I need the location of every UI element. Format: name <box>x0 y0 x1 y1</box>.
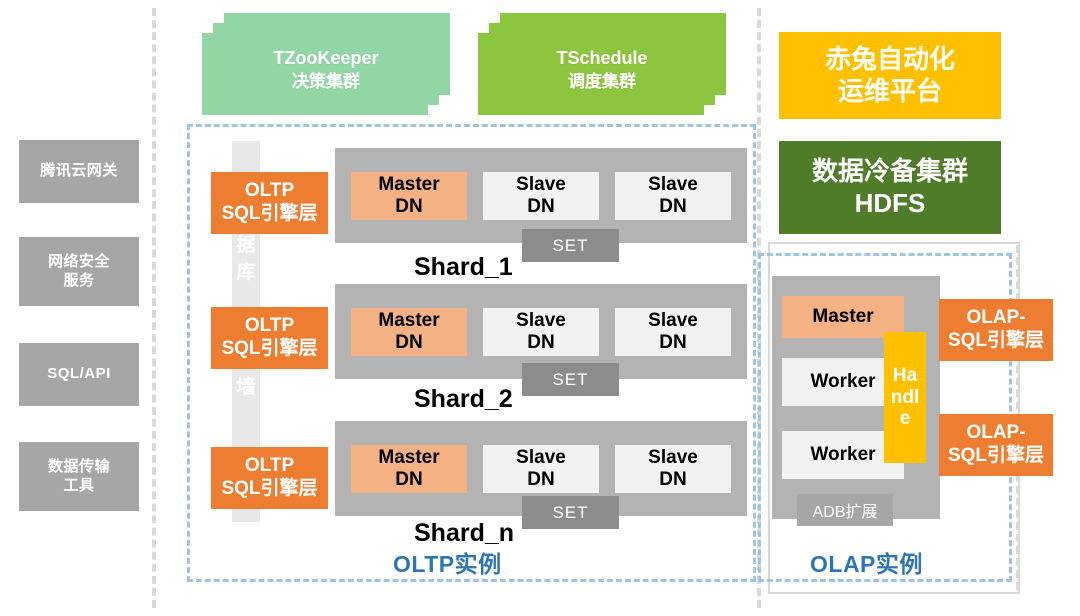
node-type: DN <box>527 469 554 491</box>
shard-node-slave-2[interactable]: Slave DN <box>615 445 731 493</box>
engine-line1: OLTP <box>245 455 294 478</box>
architecture-diagram: 腾讯云网关 网络安全 服务 SQL/API 数据传输 工具 TZooKeeper… <box>0 0 1080 616</box>
olap-node-label: Worker <box>810 444 875 466</box>
shard-node-slave-2[interactable]: Slave DN <box>615 172 731 220</box>
sidebar-item-gateway[interactable]: 腾讯云网关 <box>19 140 139 203</box>
node-type: DN <box>527 196 554 218</box>
sidebar-item-data-transfer[interactable]: 数据传输 工具 <box>19 442 139 511</box>
node-type: DN <box>659 469 686 491</box>
shard-node-master[interactable]: Master DN <box>351 308 467 356</box>
engine-line1: OLTP <box>245 315 294 338</box>
set-badge-3: SET <box>522 496 619 529</box>
node-type: DN <box>659 196 686 218</box>
shard-name-text: Shard_1 <box>414 253 513 281</box>
shard-node-slave-1[interactable]: Slave DN <box>483 445 599 493</box>
olap-region-label: OLAP实例 <box>810 545 923 579</box>
banner-line1: 赤兔自动化 <box>825 44 955 76</box>
sidebar-item-label: 数据传输 工具 <box>48 458 110 496</box>
shard-name-text: Shard_2 <box>414 385 513 413</box>
sidebar-item-label-line2: 服务 <box>63 272 94 289</box>
oltp-region-label-text: OLTP实例 <box>393 551 502 577</box>
sidebar-item-label: 网络安全 服务 <box>48 253 110 291</box>
set-badge-1: SET <box>522 229 619 262</box>
engine-line2: SQL引擎层 <box>948 445 1044 468</box>
node-type: DN <box>659 332 686 354</box>
cluster-label: TZooKeeper 决策集群 <box>273 47 378 92</box>
shard-name-3: Shard_n <box>414 519 514 548</box>
olap-sql-engine-2[interactable]: OLAP- SQL引擎层 <box>939 414 1053 476</box>
engine-line2: SQL引擎层 <box>221 338 317 361</box>
shard-node-slave-2[interactable]: Slave DN <box>615 308 731 356</box>
cluster-tzookeeper[interactable]: TZooKeeper 决策集群 <box>202 13 450 115</box>
node-role: Master <box>378 310 439 332</box>
cluster-subtitle: 决策集群 <box>273 71 378 93</box>
node-role: Slave <box>648 447 698 469</box>
shard-name-text: Shard_n <box>414 519 514 547</box>
cluster-name: TZooKeeper <box>273 47 378 70</box>
set-badge-2: SET <box>522 363 619 396</box>
engine-line2: SQL引擎层 <box>948 330 1044 353</box>
shard-name-2: Shard_2 <box>414 385 513 414</box>
node-role: Slave <box>516 310 566 332</box>
node-role: Master <box>378 174 439 196</box>
shard-node-master[interactable]: Master DN <box>351 172 467 220</box>
node-type: DN <box>527 332 554 354</box>
banner-line1: 数据冷备集群 <box>812 156 968 188</box>
sidebar-item-network-security[interactable]: 网络安全 服务 <box>19 237 139 306</box>
set-label: SET <box>552 503 588 523</box>
sidebar-item-label-line1: 数据传输 <box>48 458 110 475</box>
sidebar-item-label: 腾讯云网关 <box>40 162 118 181</box>
node-type: DN <box>395 332 422 354</box>
firewall-char-1: 据 <box>236 236 255 255</box>
shard-name-1: Shard_1 <box>414 253 513 282</box>
adb-extension-badge: ADB扩展 <box>797 494 893 526</box>
node-role: Slave <box>516 174 566 196</box>
firewall-char-2: 库 <box>236 263 255 282</box>
node-type: DN <box>395 469 422 491</box>
olap-node-label: Worker <box>810 371 875 393</box>
engine-line1: OLAP- <box>966 307 1025 330</box>
node-role: Master <box>378 447 439 469</box>
olap-sql-engine-1[interactable]: OLAP- SQL引擎层 <box>939 299 1053 361</box>
banner-line2: 运维平台 <box>838 76 942 108</box>
shard-node-master[interactable]: Master DN <box>351 445 467 493</box>
banner-chitu-automation[interactable]: 赤兔自动化 运维平台 <box>779 32 1001 119</box>
shard-node-slave-1[interactable]: Slave DN <box>483 308 599 356</box>
oltp-sql-engine-1[interactable]: OLTP SQL引擎层 <box>211 172 328 234</box>
node-type: DN <box>395 196 422 218</box>
node-role: Slave <box>516 447 566 469</box>
cluster-label: TSchedule 调度集群 <box>556 47 647 92</box>
adb-label: ADB扩展 <box>813 498 878 522</box>
olap-region-label-text: OLAP实例 <box>810 551 923 577</box>
sidebar-item-sql-api[interactable]: SQL/API <box>19 343 139 406</box>
banner-line2: HDFS <box>855 188 926 220</box>
engine-line1: OLAP- <box>966 422 1025 445</box>
cluster-tschedule[interactable]: TSchedule 调度集群 <box>478 13 726 115</box>
node-role: Slave <box>648 310 698 332</box>
cluster-subtitle: 调度集群 <box>556 71 647 93</box>
sidebar-item-label-line2: 工具 <box>63 477 94 494</box>
handle-label: Handle <box>888 365 922 431</box>
vertical-divider-left <box>152 8 156 608</box>
engine-line2: SQL引擎层 <box>221 478 317 501</box>
olap-handle[interactable]: Handle <box>884 332 926 463</box>
oltp-sql-engine-2[interactable]: OLTP SQL引擎层 <box>211 307 328 369</box>
cluster-name: TSchedule <box>556 47 647 70</box>
banner-hdfs-cold-backup[interactable]: 数据冷备集群 HDFS <box>779 141 1001 234</box>
firewall-char-5: 墙 <box>236 378 255 397</box>
set-label: SET <box>552 370 588 390</box>
oltp-region-label: OLTP实例 <box>393 545 502 579</box>
olap-node-label: Master <box>812 306 873 328</box>
sidebar-item-label: SQL/API <box>47 365 111 384</box>
engine-line2: SQL引擎层 <box>221 203 317 226</box>
oltp-sql-engine-3[interactable]: OLTP SQL引擎层 <box>211 447 328 509</box>
set-label: SET <box>552 236 588 256</box>
engine-line1: OLTP <box>245 180 294 203</box>
sidebar-item-label-line1: 网络安全 <box>48 253 110 270</box>
shard-node-slave-1[interactable]: Slave DN <box>483 172 599 220</box>
node-role: Slave <box>648 174 698 196</box>
